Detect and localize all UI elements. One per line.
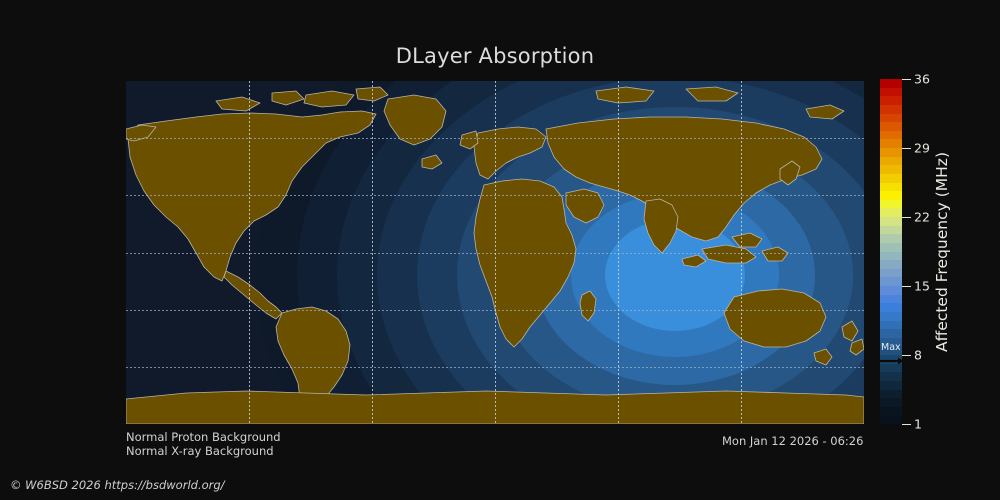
max-marker: Max xyxy=(880,344,904,366)
colorbar-band-25 xyxy=(880,295,902,304)
colorbar-tick-15 xyxy=(902,286,911,287)
colorbar-band-35 xyxy=(880,381,902,390)
colorbar-band-17 xyxy=(880,226,902,235)
status-xray-background: Normal X-ray Background xyxy=(126,444,274,458)
colorbar-band-21 xyxy=(880,260,902,269)
gridline-lon-120 xyxy=(741,81,742,424)
max-marker-label: Max xyxy=(881,343,901,353)
colorbar-band-15 xyxy=(880,208,902,217)
colorbar-band-28 xyxy=(880,321,902,330)
colorbar-tick-label-29: 29 xyxy=(914,141,930,156)
colorbar-band-24 xyxy=(880,286,902,295)
colorbar-band-2 xyxy=(880,96,902,105)
colorbar-band-34 xyxy=(880,372,902,381)
colorbar-band-37 xyxy=(880,398,902,407)
colorbar-band-10 xyxy=(880,165,902,174)
colorbar-tick-label-36: 36 xyxy=(914,72,930,87)
colorbar-band-29 xyxy=(880,329,902,338)
colorbar-band-19 xyxy=(880,243,902,252)
colorbar-tick-29 xyxy=(902,148,911,149)
colorbar-tick-label-8: 8 xyxy=(914,348,922,363)
colorbar-band-3 xyxy=(880,105,902,114)
colorbar-tick-label-1: 1 xyxy=(914,417,922,432)
colorbar-band-26 xyxy=(880,303,902,312)
gridline-lon-60 xyxy=(618,81,619,424)
colorbar-band-8 xyxy=(880,148,902,157)
colorbar[interactable] xyxy=(880,79,902,424)
colorbar-band-39 xyxy=(880,415,902,424)
colorbar-band-27 xyxy=(880,312,902,321)
colorbar-band-6 xyxy=(880,131,902,140)
colorbar-tick-1 xyxy=(902,424,911,425)
colorbar-band-14 xyxy=(880,200,902,209)
colorbar-band-7 xyxy=(880,139,902,148)
colorbar-band-36 xyxy=(880,390,902,399)
colorbar-band-1 xyxy=(880,88,902,97)
colorbar-axis-title-text: Affected Frequency (MHz) xyxy=(933,152,951,352)
dlayer-absorption-page: DLayer Absorption xyxy=(0,0,1000,500)
colorbar-axis-title: Affected Frequency (MHz) xyxy=(930,79,954,424)
max-arrow-icon xyxy=(880,357,904,365)
colorbar-band-23 xyxy=(880,277,902,286)
gridline-lon--120 xyxy=(249,81,250,424)
world-map[interactable] xyxy=(126,81,864,424)
colorbar-band-5 xyxy=(880,122,902,131)
colorbar-band-0 xyxy=(880,79,902,88)
colorbar-band-12 xyxy=(880,183,902,192)
copyright-notice: © W6BSD 2026 https://bsdworld.org/ xyxy=(10,478,225,492)
colorbar-band-13 xyxy=(880,191,902,200)
colorbar-tick-36 xyxy=(902,79,911,80)
colorbar-band-20 xyxy=(880,252,902,261)
colorbar-band-11 xyxy=(880,174,902,183)
colorbar-band-16 xyxy=(880,217,902,226)
colorbar-tick-22 xyxy=(902,217,911,218)
colorbar-gradient xyxy=(880,79,902,424)
colorbar-tick-label-15: 15 xyxy=(914,279,930,294)
colorbar-band-22 xyxy=(880,269,902,278)
gridline-lon-0 xyxy=(495,81,496,424)
timestamp: Mon Jan 12 2026 - 06:26 xyxy=(722,434,863,448)
colorbar-tick-label-22: 22 xyxy=(914,210,930,225)
status-proton-background: Normal Proton Background xyxy=(126,430,281,444)
colorbar-band-38 xyxy=(880,407,902,416)
page-title: DLayer Absorption xyxy=(0,44,990,68)
gridline-lon--60 xyxy=(372,81,373,424)
colorbar-band-18 xyxy=(880,234,902,243)
colorbar-band-4 xyxy=(880,114,902,123)
colorbar-band-9 xyxy=(880,157,902,166)
